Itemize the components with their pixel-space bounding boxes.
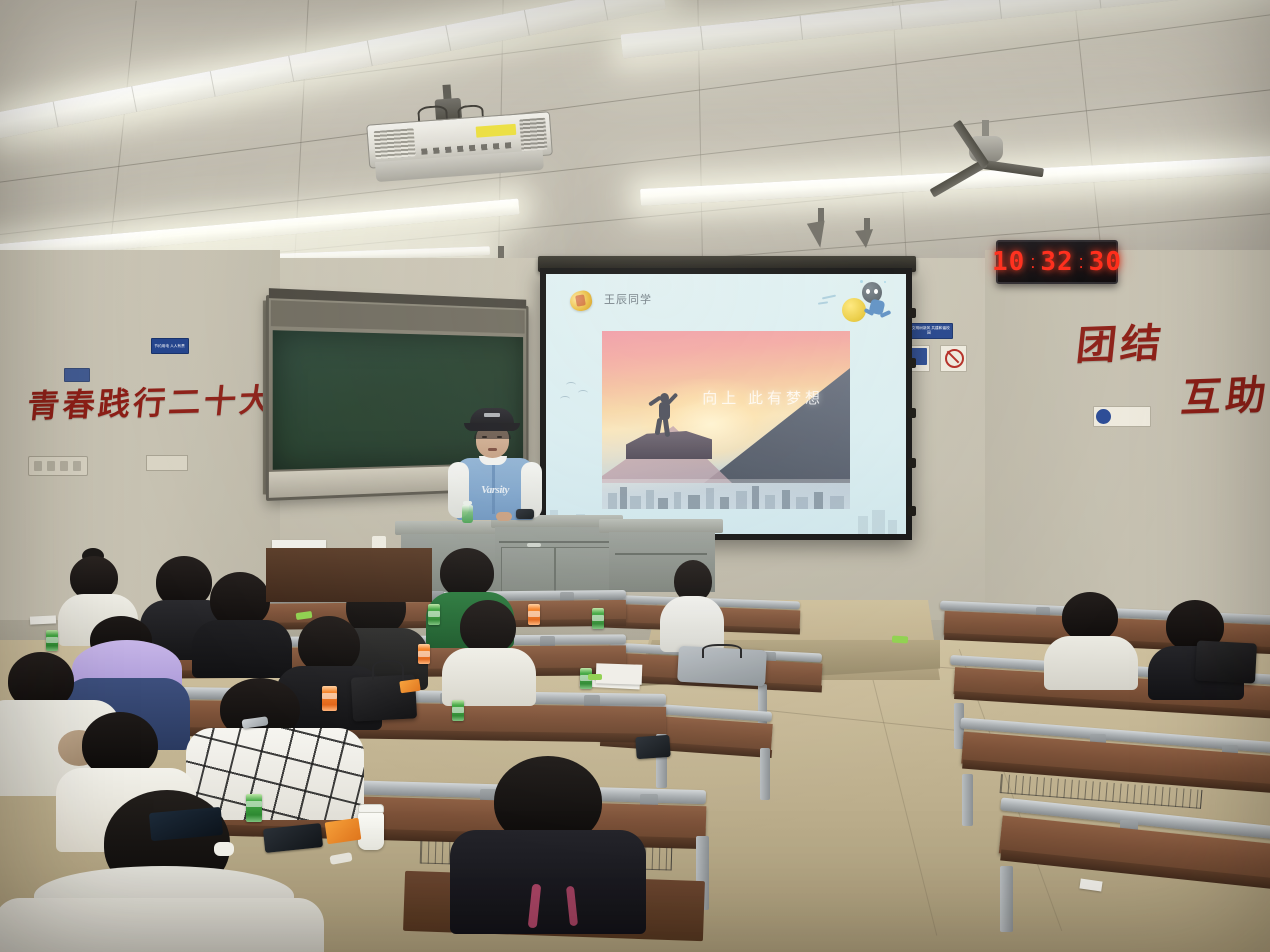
cpc-emblem-icon xyxy=(568,288,594,314)
torso xyxy=(1044,636,1138,690)
ceiling-projector xyxy=(366,111,552,180)
clock-seconds: 30 xyxy=(1089,247,1122,277)
clock-colon: : xyxy=(1079,252,1084,273)
wall-banner-left: 节约用电 人人有责 xyxy=(151,338,189,354)
bottle-cap xyxy=(463,501,472,505)
smartphone[interactable] xyxy=(635,735,670,759)
bird-decoration xyxy=(578,390,588,396)
clock-hours: 10 xyxy=(992,247,1025,277)
jacket-logo-text: Varsity xyxy=(466,484,524,496)
head xyxy=(1062,592,1118,642)
wall-calligraphy-left: 青春践行二十大 xyxy=(25,375,277,427)
jar-lid xyxy=(358,804,384,813)
orange-soda-can xyxy=(322,686,337,711)
ceiling-fan xyxy=(938,120,1048,190)
classroom-photo: 青春践行二十大 团结 互助 节约用电 人人有责 讲文明树新风 共建和谐校园 10… xyxy=(0,0,1270,952)
water-bottle xyxy=(462,505,473,523)
screen-skyline-right xyxy=(888,520,897,534)
ceiling-light-strip xyxy=(0,0,666,139)
handbag-strap xyxy=(372,660,404,680)
backpack-strap xyxy=(702,644,742,658)
wall-banner-right: 讲文明树新风 共建和谐校园 xyxy=(905,323,953,339)
torso xyxy=(0,898,324,952)
right-wall xyxy=(985,250,1270,650)
ceiling-speaker xyxy=(855,229,875,249)
orange-snack-pack xyxy=(325,818,362,845)
small-white-item xyxy=(214,842,234,856)
lectern-desktop-right xyxy=(599,519,723,533)
green-marker xyxy=(892,635,908,643)
slide-caption: 向上 此有梦想 xyxy=(702,387,824,408)
bird-decoration xyxy=(566,382,576,388)
student xyxy=(450,756,646,926)
torso xyxy=(442,648,536,706)
wall-power-outlet[interactable] xyxy=(28,456,88,476)
student xyxy=(446,600,532,700)
clock-colon: : xyxy=(1030,252,1035,273)
paper-sheet xyxy=(30,615,56,624)
jumping-figure-silhouette xyxy=(648,389,678,439)
bird-decoration xyxy=(560,396,570,402)
green-soda-can xyxy=(592,608,604,629)
wall-banner-left-text: 节约用电 人人有责 xyxy=(155,344,185,348)
hand xyxy=(496,512,512,521)
orange-soda-can xyxy=(528,604,540,625)
student xyxy=(660,560,724,650)
green-soda-can xyxy=(46,630,58,651)
torso xyxy=(192,620,292,678)
projector-label xyxy=(476,124,517,138)
green-soda-can xyxy=(428,604,440,625)
wall-plate-no-smoking xyxy=(940,345,967,372)
green-soda-can xyxy=(452,700,464,721)
wall-banner-right-text: 讲文明树新风 共建和谐校园 xyxy=(908,327,950,335)
ceiling-speaker xyxy=(807,221,829,250)
wall-plate-right-lower xyxy=(1093,406,1151,427)
orange-soda-can xyxy=(418,644,430,664)
green-marker xyxy=(588,674,602,680)
front-desk xyxy=(266,548,432,602)
slide-image: 向上 此有梦想 xyxy=(602,331,850,509)
desk-row xyxy=(1000,812,1270,932)
ceiling-light-strip xyxy=(621,0,1270,58)
wall-calligraphy-right-top: 团结 xyxy=(1074,310,1169,371)
head xyxy=(460,600,516,654)
student xyxy=(1048,592,1134,684)
green-soda-can xyxy=(246,794,262,822)
wall-calligraphy-right-bottom: 互助 xyxy=(1179,362,1270,423)
clock-minutes: 32 xyxy=(1040,247,1073,277)
wall-plate-left xyxy=(146,455,188,471)
digital-clock: 10 : 32 : 30 xyxy=(996,240,1118,284)
projected-slide: 王辰同学 xyxy=(546,274,906,534)
head xyxy=(440,548,494,598)
slide-header-text: 王辰同学 xyxy=(604,291,652,307)
black-handbag xyxy=(1195,640,1257,683)
torso xyxy=(450,830,646,934)
projection-screen-frame: 王辰同学 xyxy=(540,268,912,540)
smartphone[interactable] xyxy=(516,509,534,519)
screen-skyline-right xyxy=(872,510,885,534)
white-drink-jar xyxy=(358,812,384,850)
wall-banner-left-small xyxy=(64,368,90,382)
mascot-icon xyxy=(840,280,896,326)
paper-sheet xyxy=(596,663,643,685)
screen-skyline-right xyxy=(858,516,868,534)
